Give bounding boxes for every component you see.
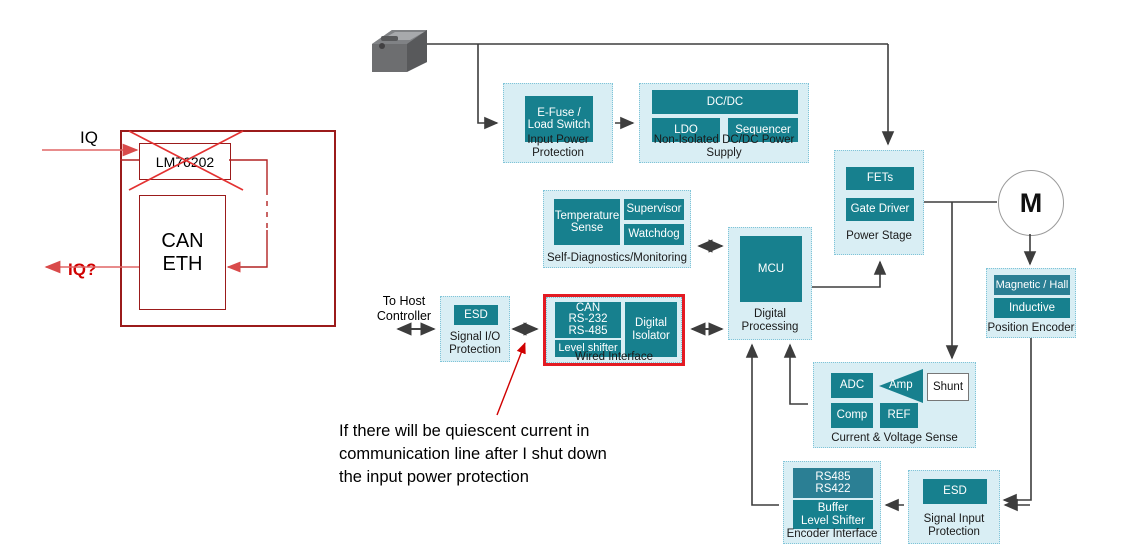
group-wired-interface: CAN RS-232 RS-485 Level shifter Digital … [546,297,682,363]
group-title-signal-input-protection: Signal Input Protection [909,513,999,538]
group-title-current-voltage-sense: Current & Voltage Sense [814,432,975,445]
group-signal-io-protection: ESD Signal I/O Protection [440,296,510,362]
block-amp-triangle: Amp [877,369,923,403]
sip-title-line1: Signal Input [909,513,999,526]
amp-label: Amp [889,379,913,391]
group-self-diagnostics: Temperature Sense Supervisor Watchdog Se… [543,190,691,268]
group-current-voltage-sense: ADC Comp REF Amp Shunt Current & Voltage… [813,362,976,448]
rs-line1: RS485 [815,471,850,484]
group-title-encoder-interface: Encoder Interface [784,528,880,541]
host-line2: Controller [367,309,441,324]
efuse-line1: E-Fuse / [537,107,580,120]
host-line1: To Host [367,294,441,309]
can-line3: RS-485 [569,326,608,338]
diagram-canvas: LM76202 CAN ETH IQ IQ? E-Fuse / Load Swi… [0,0,1137,555]
block-digital-isolator: Digital Isolator [625,302,677,357]
motor-symbol: M [998,170,1064,236]
group-title-input-power-protection: Input Power Protection [504,134,612,159]
group-title-self-diagnostics: Self-Diagnostics/Monitoring [544,252,690,265]
block-supervisor: Supervisor [624,199,684,220]
group-signal-input-protection: ESD Signal Input Protection [908,470,1000,544]
schematic-can-eth-block: CAN ETH [139,195,226,310]
schematic-output-current-label: IQ? [68,260,96,280]
group-digital-processing: MCU Digital Processing [728,227,812,340]
annotation-line-3: the input power protection [339,466,607,489]
rs-line2: RS422 [815,483,850,496]
group-position-encoder: Magnetic / Hall Inductive Position Encod… [986,268,1076,338]
block-mcu: MCU [740,236,802,302]
block-comp: Comp [831,403,873,428]
block-esd-input: ESD [923,479,987,504]
block-rs485-rs422: RS485 RS422 [793,468,873,498]
annotation-line-1: If there will be quiescent current in [339,420,607,443]
group-input-power-protection: E-Fuse / Load Switch Input Power Protect… [503,83,613,163]
block-watchdog: Watchdog [624,224,684,245]
iso-line1: Digital [635,317,667,330]
iso-line2: Isolator [632,330,670,343]
buf-line1: Buffer [818,502,848,515]
group-encoder-interface: RS485 RS422 Buffer Level Shifter Encoder… [783,461,881,544]
schematic-can-label: CAN [161,230,203,253]
block-magnetic-hall: Magnetic / Hall [994,275,1070,295]
group-power-stage: FETs Gate Driver Power Stage [834,150,924,255]
schematic-lm76202-block: LM76202 [139,143,231,180]
block-shunt: Shunt [927,373,969,401]
block-can-rs232-rs485: CAN RS-232 RS-485 [555,302,621,338]
block-inductive: Inductive [994,298,1070,318]
block-dcdc: DC/DC [652,90,798,114]
block-ref: REF [880,403,918,428]
sip-title-line2: Protection [909,526,999,539]
group-title-digital-processing: Digital Processing [729,308,811,333]
temp-line1: Temperature [555,210,620,223]
block-adc: ADC [831,373,873,398]
block-gate-driver: Gate Driver [846,198,914,221]
annotation-line-2: communication line after I shut down [339,443,607,466]
schematic-eth-label: ETH [163,253,203,276]
group-title-dcdc-supply: Non-Isolated DC/DC Power Supply [640,134,808,159]
block-fets: FETs [846,167,914,190]
group-title-position-encoder: Position Encoder [987,322,1075,335]
sigio-title-line1: Signal I/O [441,331,509,344]
buf-line2: Level Shifter [801,515,865,528]
dp-title-line2: Processing [729,321,811,334]
efuse-line2: Load Switch [528,119,591,132]
group-title-signal-io-protection: Signal I/O Protection [441,331,509,356]
dp-title-line1: Digital [729,308,811,321]
group-title-wired-interface: Wired Interface [547,351,681,364]
temp-line2: Sense [571,222,604,235]
block-esd-io: ESD [454,305,498,325]
schematic-input-current-label: IQ [80,128,98,148]
block-temperature-sense: Temperature Sense [554,199,620,245]
group-title-power-stage: Power Stage [835,230,923,243]
to-host-controller-label: To Host Controller [367,294,441,324]
sigio-title-line2: Protection [441,344,509,357]
group-dcdc-supply: DC/DC LDO Sequencer Non-Isolated DC/DC P… [639,83,809,163]
block-buffer-level-shifter: Buffer Level Shifter [793,500,873,529]
annotation-text: If there will be quiescent current in co… [339,420,607,489]
battery-icon [372,30,427,72]
